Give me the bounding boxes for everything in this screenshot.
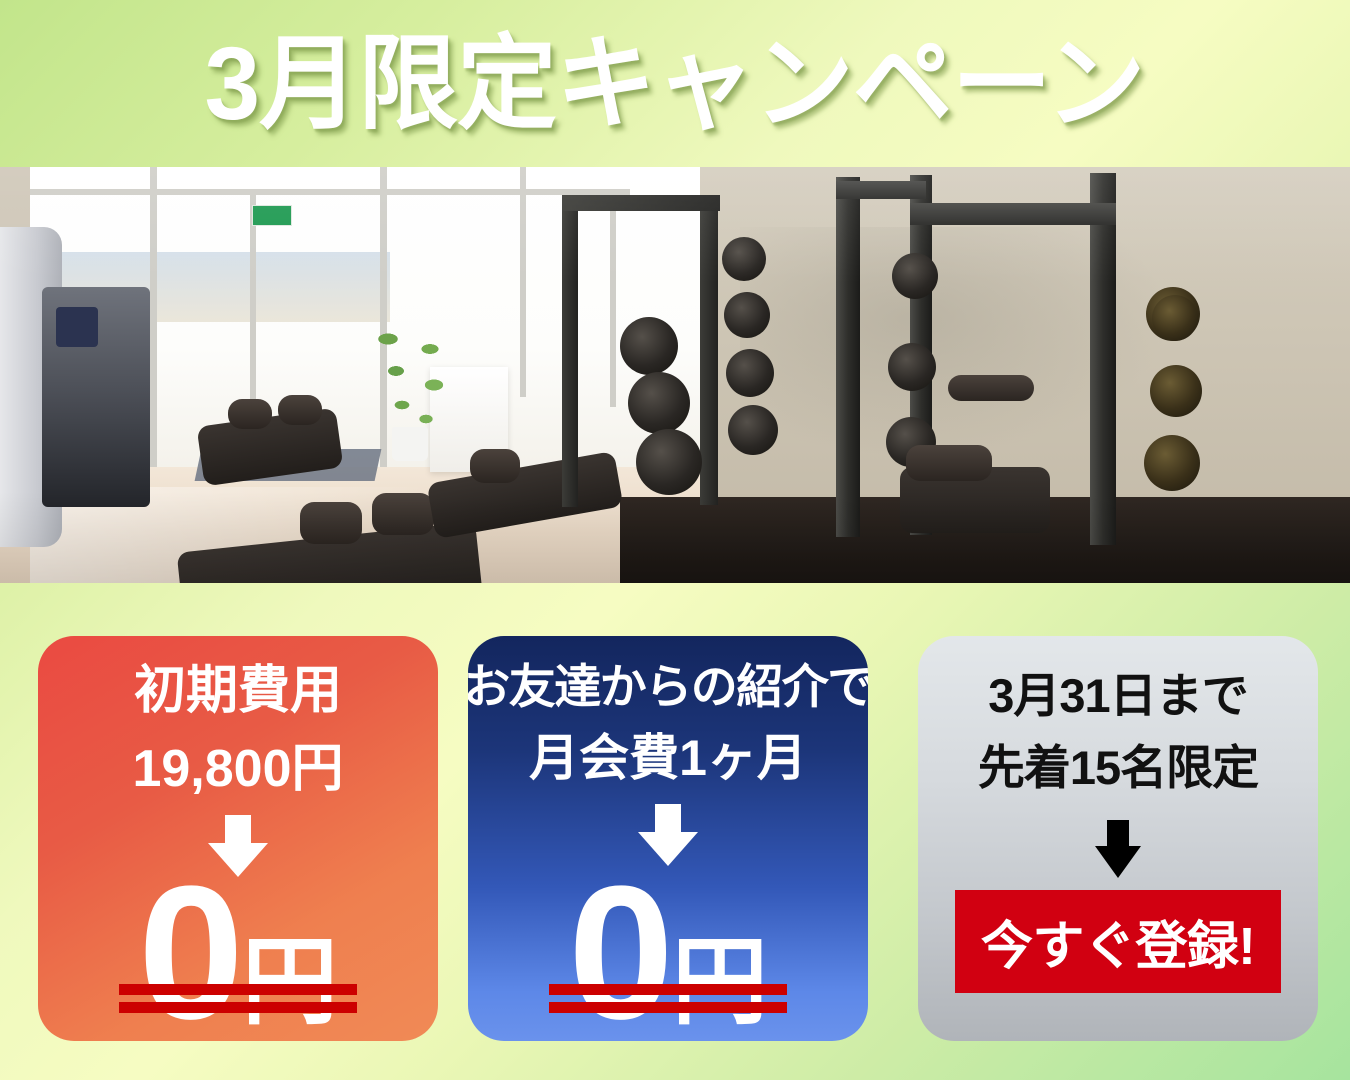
card-content: 3月31日まで 先着15名限定 今すぐ登録! [918,636,1318,1041]
card-discounted-price: 0 円 [138,866,338,1041]
underline-bar-top [549,984,787,995]
offer-card-initial-fee[interactable]: 初期費用 19,800円 0 円 [38,636,438,1041]
window-mullion [520,167,526,397]
power-rack-crossbar [836,181,926,199]
treadmill-console [56,307,98,347]
weight-plate [1144,435,1200,491]
barbell-pad [948,375,1034,401]
underline-bar-bottom [119,1002,357,1013]
power-rack-crossbar [910,203,1116,225]
arrow-head [208,843,268,877]
underline-bar-top [119,984,357,995]
down-arrow-icon [638,804,698,865]
weight-plate [726,349,774,397]
weight-plate [620,317,678,375]
card-heading-referral: お友達からの紹介で [468,661,868,714]
offer-card-referral[interactable]: お友達からの紹介で 月会費1ヶ月 0 円 [468,636,868,1041]
window-mullion [610,197,616,407]
double-underline [119,984,357,1013]
smith-machine-post [562,207,578,507]
down-arrow-icon [208,815,268,864]
offer-cards: 初期費用 19,800円 0 円 お友達からの紹介で 月 [0,583,1350,1080]
gym-interior-photo [0,167,1350,583]
campaign-poster: 3月限定キャンペーン [0,0,1350,1080]
price-unit: 円 [672,939,768,1027]
exit-sign-icon [252,205,292,226]
down-arrow-icon [1095,820,1141,880]
offer-card-deadline[interactable]: 3月31日まで 先着15名限定 今すぐ登録! [918,636,1318,1041]
card-original-price: 19,800円 [132,726,343,801]
price-number: 0 [568,866,670,1041]
weight-plate [1152,295,1198,341]
smith-machine-post [700,195,718,505]
bench-pad-roll [372,493,434,535]
weight-plate [722,237,766,281]
weight-plate [1150,365,1202,417]
power-rack-post [836,177,860,537]
potted-plant-pot [392,427,428,461]
bench-back-pad [906,445,992,481]
price-unit: 円 [242,939,338,1027]
window-mullion [30,189,630,195]
double-underline [549,984,787,1013]
card-heading-deadline: 3月31日まで [988,670,1247,723]
bench-pad-roll [300,502,362,544]
card-content: お友達からの紹介で 月会費1ヶ月 0 円 [468,636,868,1041]
card-content: 初期費用 19,800円 0 円 [38,636,438,1041]
card-discounted-price: 0 円 [568,866,768,1041]
smith-machine-top [562,195,720,211]
power-rack-post [1090,173,1116,545]
card-subheading-referral: 月会費1ヶ月 [529,718,807,790]
weight-plate [892,253,938,299]
poster-header: 3月限定キャンペーン [0,0,1350,167]
weight-plate [636,429,702,495]
bench-pad-roll [278,395,322,425]
window-mullion [150,167,157,487]
weight-plate [628,372,690,434]
weight-plate [724,292,770,338]
underline-bar-bottom [549,1002,787,1013]
bench-pad-roll [470,449,520,483]
photo-scene [0,167,1350,583]
bench-pad-roll [228,399,272,429]
card-subheading-capacity: 先着15名限定 [978,729,1258,798]
page-title: 3月限定キャンペーン [205,32,1145,135]
card-heading-initial-fee: 初期費用 [134,662,342,720]
register-now-button[interactable]: 今すぐ登録! [955,890,1281,993]
arrow-head [638,832,698,866]
arrow-head [1095,846,1141,878]
weight-plate [888,343,936,391]
weight-plate [728,405,778,455]
register-now-label: 今すぐ登録! [981,904,1255,979]
price-number: 0 [138,866,240,1041]
potted-plant-leaves [368,327,458,437]
